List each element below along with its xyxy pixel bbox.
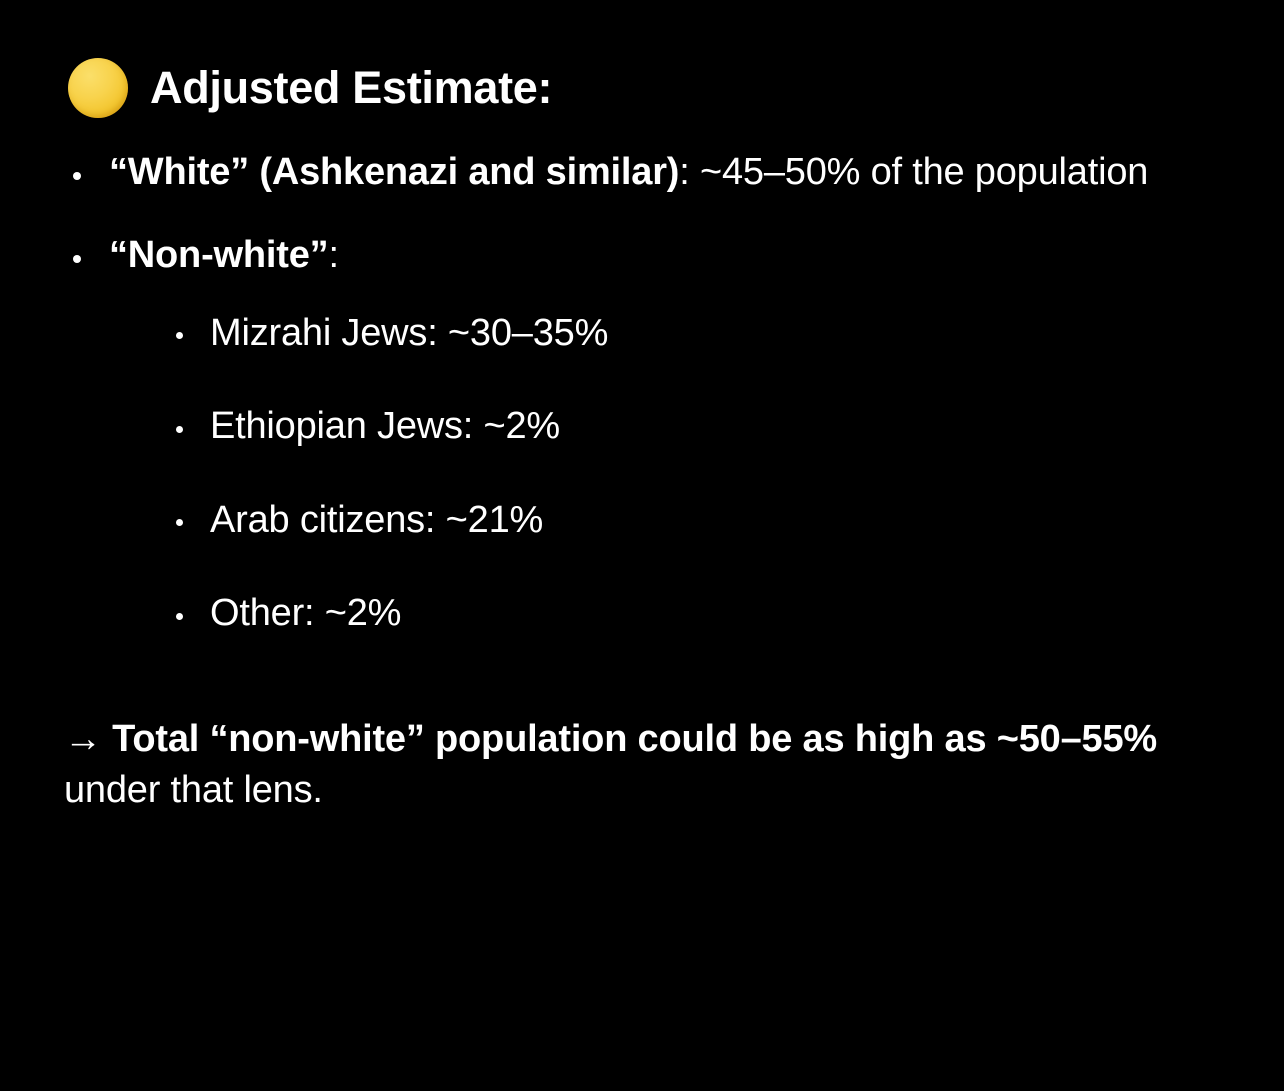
yellow-circle-icon [68,58,128,118]
nested-list-item-text: Arab citizens: ~21% [210,499,543,541]
top-level-bullet-list: “White” (Ashkenazi and similar): ~45–50%… [60,148,1224,638]
summary-paragraph: → Total “non-white” population could be … [64,714,1194,815]
nested-list-item-text: Ethiopian Jews: ~2% [210,405,560,447]
list-item: “White” (Ashkenazi and similar): ~45–50%… [68,148,1224,197]
bullet-dot-icon [176,519,183,526]
summary-bold-text: → Total “non-white” population could be … [64,718,1157,760]
list-item: Mizrahi Jews: ~30–35% [172,309,1224,358]
bullet-dot-icon [176,426,183,433]
list-item-label-bold: “Non-white” [109,234,328,276]
list-item-label-bold: “White” (Ashkenazi and similar) [109,151,679,193]
list-item: Ethiopian Jews: ~2% [172,402,1224,451]
list-item: “Non-white”: Mizrahi Jews: ~30–35% Ethio… [68,231,1224,638]
summary-regular-text: under that lens. [64,769,323,811]
list-item: Arab citizens: ~21% [172,496,1224,545]
bullet-dot-icon [73,172,81,180]
page-title: Adjusted Estimate: [150,63,552,113]
nested-bullet-list: Mizrahi Jews: ~30–35% Ethiopian Jews: ~2… [109,309,1224,639]
list-item-value: : [328,234,338,276]
bullet-dot-icon [73,255,81,263]
list-item-value: : ~45–50% of the population [679,151,1148,193]
section-heading: Adjusted Estimate: [68,58,1224,118]
message-body: Adjusted Estimate: “White” (Ashkenazi an… [0,0,1284,1091]
bullet-dot-icon [176,613,183,620]
nested-list-item-text: Other: ~2% [210,592,401,634]
nested-list-item-text: Mizrahi Jews: ~30–35% [210,312,608,354]
bullet-dot-icon [176,332,183,339]
list-item: Other: ~2% [172,589,1224,638]
